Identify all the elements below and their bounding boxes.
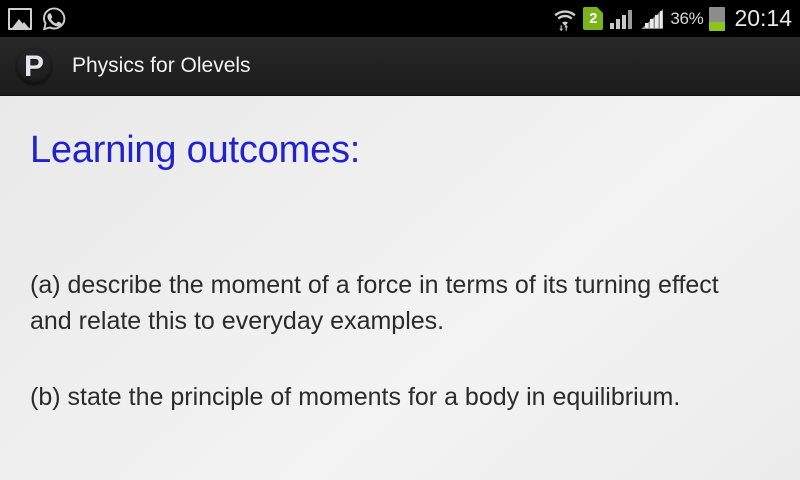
- learning-outcome-a: (a) describe the moment of a force in te…: [30, 267, 745, 339]
- gallery-icon: [8, 8, 32, 30]
- whatsapp-icon: [41, 6, 67, 32]
- learning-outcomes-heading: Learning outcomes:: [30, 96, 770, 172]
- content-area[interactable]: Learning outcomes: (a) describe the mome…: [0, 96, 800, 480]
- action-bar: P Physics for Olevels: [0, 37, 800, 96]
- signal-bars-icon-2: [639, 7, 665, 31]
- sim-card-icon: 2: [583, 7, 603, 30]
- battery-percent-label: 36%: [670, 9, 703, 29]
- status-bar[interactable]: 2 36%: [0, 0, 800, 37]
- status-clock: 20:14: [734, 5, 792, 32]
- app-logo-letter: P: [16, 48, 52, 84]
- learning-outcome-b: (b) state the principle of moments for a…: [30, 379, 745, 415]
- status-bar-notifications: [8, 6, 67, 32]
- battery-fill: [709, 22, 725, 31]
- status-bar-system-icons: 2 36%: [552, 5, 792, 32]
- page-title: Physics for Olevels: [72, 54, 251, 78]
- signal-bars-icon: [608, 7, 634, 31]
- battery-icon: [709, 7, 725, 31]
- wifi-icon: [552, 6, 578, 32]
- app-logo-p[interactable]: P: [16, 48, 52, 84]
- phone-screen: 2 36%: [0, 0, 800, 480]
